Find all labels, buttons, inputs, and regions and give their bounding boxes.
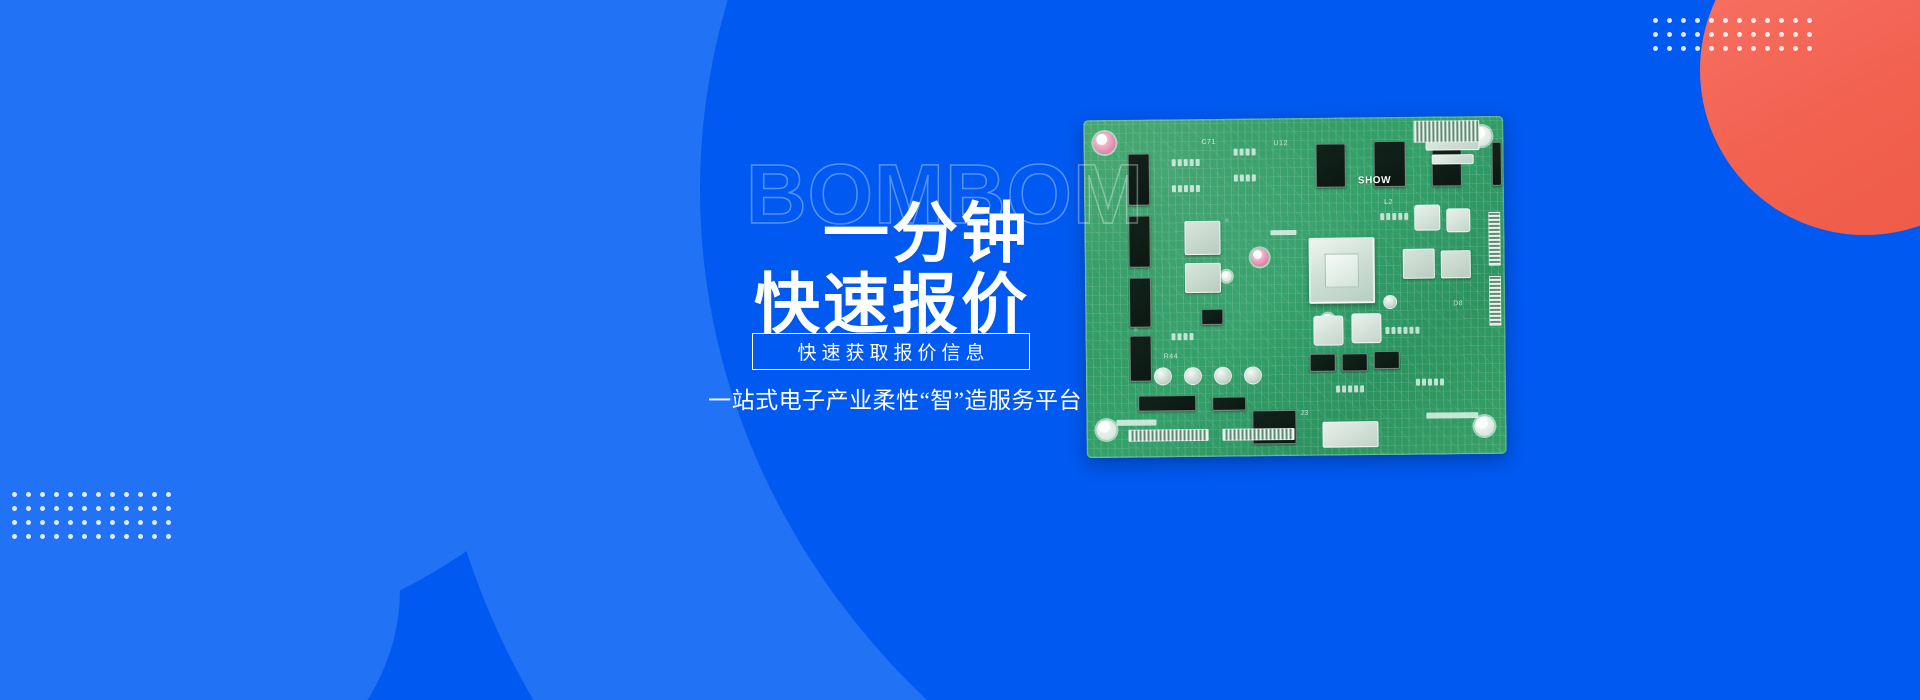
- pcb-inductor: [1446, 208, 1470, 232]
- page-title: 一分钟 快速报价: [748, 200, 1030, 339]
- pcb-smd-row: [1380, 213, 1408, 220]
- pcb-mount-hole: [1474, 416, 1494, 436]
- hero-banner: SHOW C71 U12 R44 J3 D8 L2 BOMBOM 一分钟 快速报…: [0, 0, 1920, 700]
- pcb-chip: [1374, 351, 1400, 369]
- pcb-connector: [1489, 276, 1502, 326]
- pcb-chip: [1316, 143, 1346, 187]
- pcb-connector-shield: [1322, 421, 1378, 448]
- pcb-chip: [1441, 250, 1471, 278]
- pcb-label: D8: [1453, 300, 1463, 307]
- pcb-inductor: [1414, 204, 1440, 230]
- pcb-processor-die: [1324, 253, 1359, 288]
- pcb-chip: [1403, 249, 1435, 279]
- dot-grid-top-right-icon: [1653, 18, 1812, 51]
- pcb-connector: [1413, 120, 1479, 143]
- pcb-chip: [1342, 353, 1368, 371]
- pcb-smd-row: [1416, 378, 1444, 385]
- pcb-label: L2: [1384, 199, 1393, 206]
- headline-line-1: 一分钟: [748, 200, 1030, 267]
- pcb-chip: [1491, 142, 1501, 186]
- pcb-smd-row: [1385, 327, 1419, 334]
- pcb-silkscreen-logo: SHOW: [1358, 175, 1391, 186]
- subtitle-text: 一站式电子产业柔性“智”造服务平台: [686, 381, 1082, 415]
- pcb-inductor: [1351, 313, 1381, 343]
- get-quote-button[interactable]: 快速获取报价信息: [752, 333, 1030, 370]
- pcb-pad: [1426, 412, 1478, 419]
- headline-line-2: 快速报价: [748, 271, 1030, 338]
- pcb-shield-can: [1432, 154, 1474, 164]
- pcb-smd-row: [1336, 385, 1364, 392]
- hero-content: BOMBOM 一分钟 快速报价 快速获取报价信息 一站式电子产业柔性“智”造服务…: [0, 0, 1320, 700]
- pcb-capacitor: [1383, 295, 1397, 309]
- pcb-connector: [1488, 212, 1501, 266]
